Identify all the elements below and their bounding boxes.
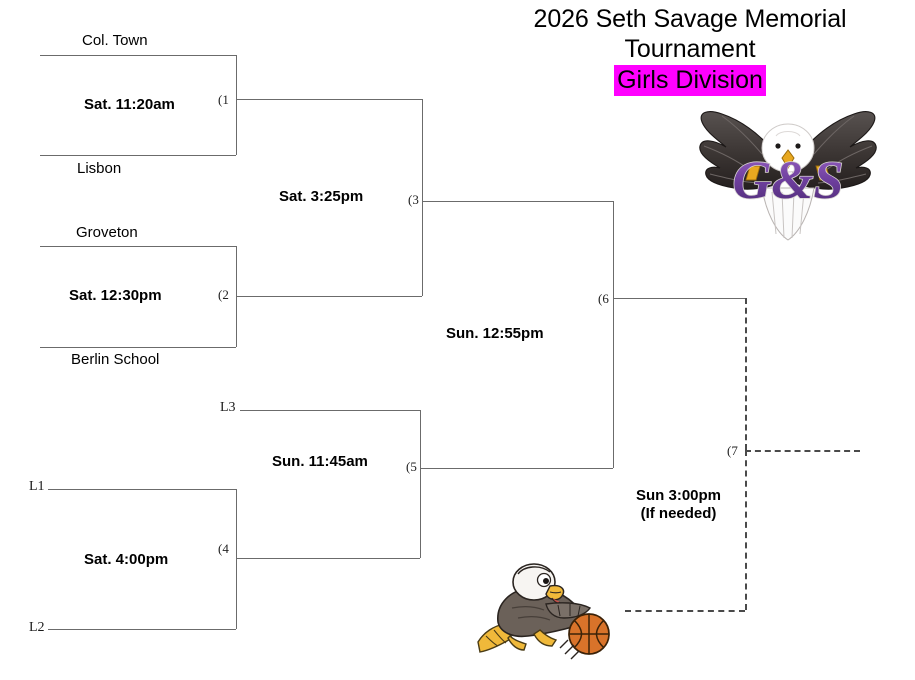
game1-top-line: [40, 55, 236, 56]
seed-label-l2: L2: [29, 620, 45, 636]
game3-right-connector-lower: [422, 201, 423, 296]
title-line-1: 2026 Seth Savage Memorial: [470, 4, 910, 34]
game6-bottom-line: [420, 468, 613, 469]
game5-top-line: [240, 410, 420, 411]
game6-top-line: [422, 201, 613, 202]
game7-top-line: [613, 298, 745, 299]
game1-bottom-line: [40, 155, 236, 156]
game7-time-block: Sun 3:00pm (If needed): [621, 487, 736, 523]
game6-right-connector-lower: [613, 298, 614, 468]
game7-time: Sun 3:00pm: [621, 487, 736, 505]
team-lisbon: Lisbon: [77, 160, 121, 177]
division-label: Girls Division: [614, 65, 766, 96]
game6-number: (6: [598, 291, 609, 307]
game7-right-connector-lower: [745, 450, 747, 610]
game4-right-connector: [236, 489, 237, 629]
division-wrap: Girls Division: [470, 65, 910, 99]
game7-right-connector-upper: [745, 298, 747, 450]
title-line-2: Tournament: [470, 34, 910, 64]
game5-number: (5: [406, 459, 417, 475]
game7-number: (7: [727, 443, 738, 459]
game1-right-connector: [236, 55, 237, 155]
game4-bottom-line: [48, 629, 236, 630]
game4-top-line: [48, 489, 236, 490]
game5-time: Sun. 11:45am: [272, 453, 368, 470]
game2-time: Sat. 12:30pm: [69, 287, 162, 304]
team-berlin-school: Berlin School: [71, 351, 159, 368]
game1-time: Sat. 11:20am: [84, 96, 175, 113]
basketball: [569, 614, 609, 654]
bracket-page: 2026 Seth Savage Memorial Tournament Gir…: [0, 0, 915, 680]
game6-right-connector-upper: [613, 201, 614, 298]
game3-right-connector-upper: [422, 99, 423, 201]
game2-bottom-line: [40, 347, 236, 348]
game1-number: (1: [218, 92, 229, 108]
game7-note: (If needed): [621, 505, 736, 523]
game5-right-connector-upper: [420, 410, 421, 468]
game3-number: (3: [408, 192, 419, 208]
game3-time: Sat. 3:25pm: [279, 188, 363, 205]
eagle-basketball-mascot: [468, 552, 623, 672]
game2-top-line: [40, 246, 236, 247]
game5-bottom-line: [236, 558, 420, 559]
game3-top-line: [236, 99, 422, 100]
seed-label-l3: L3: [220, 400, 236, 416]
game5-right-connector-lower: [420, 468, 421, 558]
gs-monogram-text: G&S: [732, 150, 843, 210]
game2-number: (2: [218, 287, 229, 303]
game7-bottom-line: [625, 610, 745, 612]
game3-bottom-line: [236, 296, 422, 297]
team-col-town: Col. Town: [82, 32, 148, 49]
game6-time: Sun. 12:55pm: [446, 325, 544, 342]
svg-text:G&S: G&S: [732, 150, 843, 210]
game4-time: Sat. 4:00pm: [84, 551, 168, 568]
game4-number: (4: [218, 541, 229, 557]
seed-label-l1: L1: [29, 479, 45, 495]
page-title: 2026 Seth Savage Memorial Tournament Gir…: [470, 4, 910, 99]
team-groveton: Groveton: [76, 224, 138, 241]
gs-eagle-logo: G&S: [688, 100, 888, 245]
game7-winner-line: [745, 450, 860, 452]
